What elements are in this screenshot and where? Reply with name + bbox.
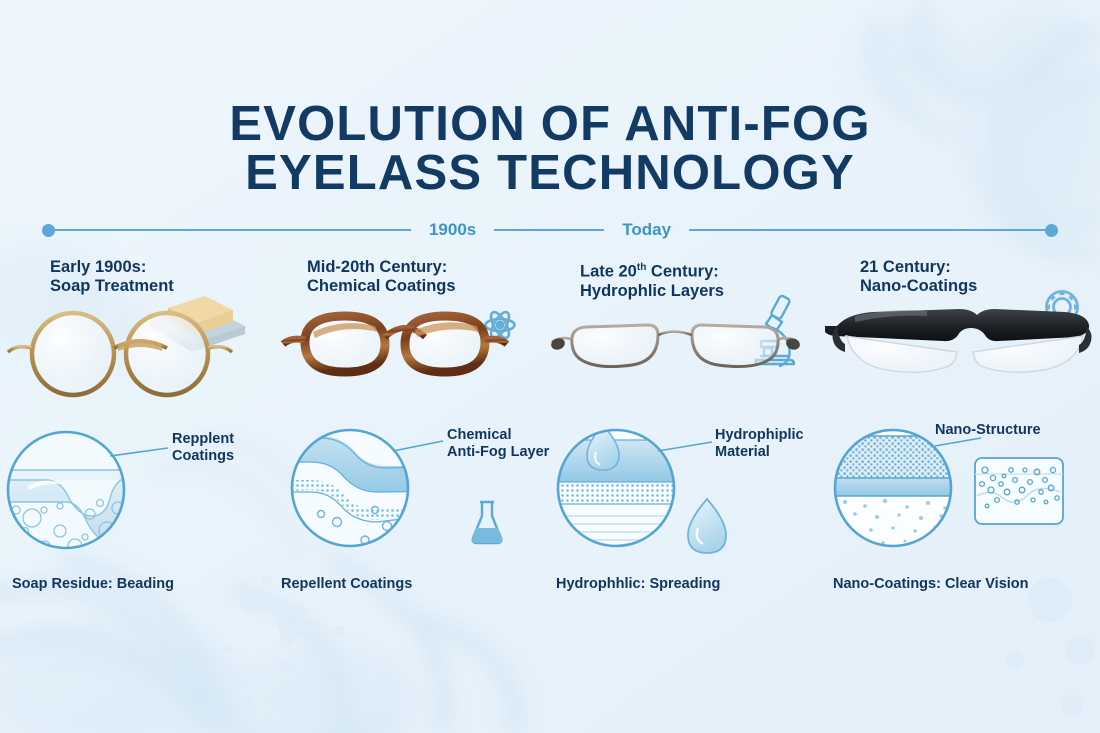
- stage-column-mid-20th-century: Mid-20th Century: Chemical Coatings: [275, 258, 550, 598]
- stage-caption: Nano-Coatings: Clear Vision: [833, 576, 1029, 592]
- stage-heading-era-tail: Century:: [646, 263, 718, 281]
- tortoiseshell-round-glasses-photo: [275, 282, 550, 402]
- stage-heading-era: Late 20: [580, 263, 637, 281]
- stage-caption: Hydrophhlic: Spreading: [556, 576, 720, 592]
- stage-column-late-20th-century: Late 20th Century: Hydrophlic Layers: [550, 258, 825, 598]
- thin-metal-rectangular-glasses-photo: [550, 282, 825, 402]
- nano-particle-panel-icon: [975, 458, 1063, 524]
- callout-nano-structure: Nano-Structure: [935, 422, 1041, 439]
- callout-line-1: Chemical: [447, 427, 549, 444]
- infographic-canvas: EVOLUTION OF ANTI-FOG EYELASS TECHNOLOGY…: [0, 0, 1100, 733]
- round-gold-frame-glasses-photo: [0, 282, 275, 402]
- timeline-label-start: 1900s: [411, 220, 494, 240]
- water-droplet-icon: [688, 499, 726, 553]
- timeline-end-dot: [1045, 224, 1058, 237]
- callout-line-2: Coatings: [172, 448, 234, 465]
- stage-column-early-1900s: Early 1900s: Soap Treatment: [0, 258, 275, 598]
- stage-heading-line-1: Late 20th Century:: [580, 258, 825, 282]
- timeline-rule-left: [55, 229, 411, 231]
- callout-repellent-coatings: Repplent Coatings: [172, 431, 234, 465]
- timeline-rule-mid: [494, 229, 604, 231]
- black-semi-rimless-glasses-photo: [825, 282, 1100, 402]
- coating-diagram-chemical: Chemical Anti-Fog Layer Repellent Coatin…: [275, 418, 560, 598]
- callout-line-1: Repplent: [172, 431, 234, 448]
- coating-diagram-hydrophilic: Hydrophiplic Material Hydrophhlic: Sprea…: [550, 418, 835, 598]
- callout-chemical-anti-fog-layer: Chemical Anti-Fog Layer: [447, 427, 549, 461]
- page-title: EVOLUTION OF ANTI-FOG EYELASS TECHNOLOGY: [0, 100, 1100, 198]
- stage-heading-line-1: Early 1900s:: [50, 258, 275, 277]
- flask-icon: [472, 502, 503, 543]
- title-line-2: EYELASS TECHNOLOGY: [0, 149, 1100, 198]
- stage-column-21-century: 21 Century: Nano-Coatings: [825, 258, 1100, 598]
- coating-diagram-nano: Nano-Structure Nano-Coatings: Clear Visi…: [825, 418, 1100, 598]
- callout-hydrophilic-material: Hydrophiplic Material: [715, 427, 804, 461]
- callout-line-2: Anti-Fog Layer: [447, 444, 549, 461]
- timeline-label-end: Today: [604, 220, 689, 240]
- stage-heading-ordinal: th: [637, 262, 646, 273]
- timeline-start-dot: [42, 224, 55, 237]
- stage-columns: Early 1900s: Soap Treatment: [0, 258, 1100, 598]
- stage-caption: Soap Residue: Beading: [12, 576, 174, 592]
- stage-caption: Repellent Coatings: [281, 576, 412, 592]
- title-line-1: EVOLUTION OF ANTI-FOG: [0, 100, 1100, 149]
- stage-heading-line-1: Mid-20th Century:: [307, 258, 550, 277]
- timeline: 1900s Today: [42, 214, 1058, 246]
- timeline-rule-right: [689, 229, 1045, 231]
- callout-line-1: Nano-Structure: [935, 422, 1041, 439]
- callout-line-1: Hydrophiplic: [715, 427, 804, 444]
- callout-line-2: Material: [715, 444, 804, 461]
- coating-diagram-soap: Repplent Coatings Soap Residue: Beading: [0, 418, 285, 598]
- stage-heading-line-1: 21 Century:: [860, 258, 1100, 277]
